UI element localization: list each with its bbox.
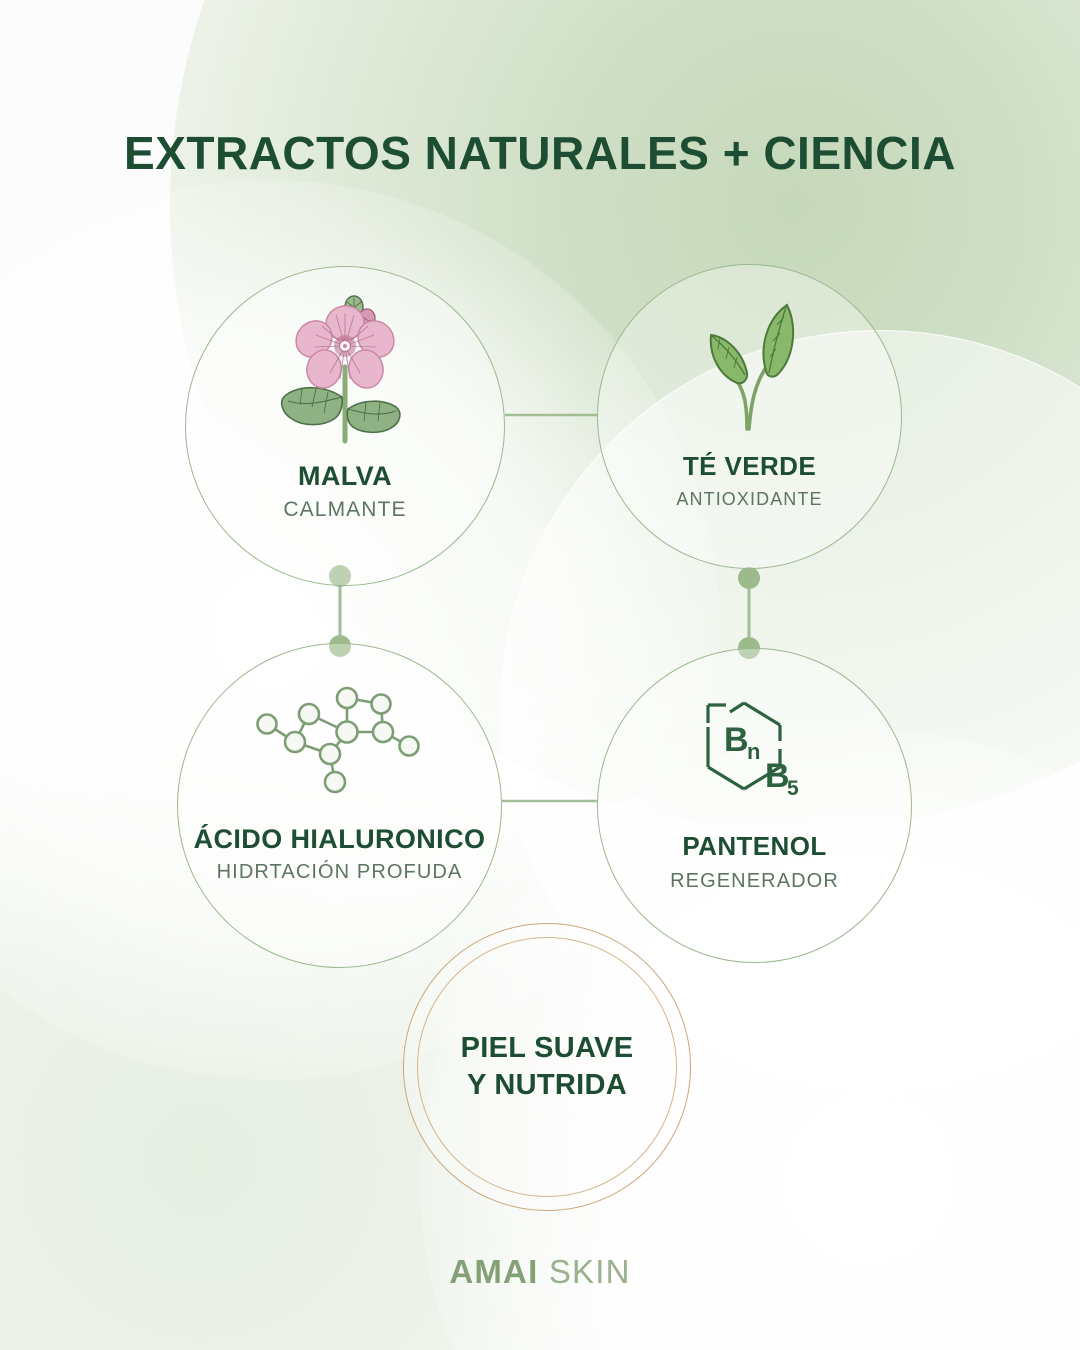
node-subtitle: CALMANTE [283,498,406,522]
outcome-line-1: PIEL SUAVE [461,1032,634,1064]
ingredient-node-malva[interactable]: MALVA CALMANTE [185,266,505,586]
node-title: ÁCIDO HIALURONICO [194,824,486,855]
node-subtitle: REGENERADOR [670,870,839,893]
hexagon-label-primary-sub: n [747,739,760,764]
mallow-flower-icon [270,289,420,459]
node-subtitle: ANTIOXIDANTE [676,489,822,510]
hexagon-b5-icon: B n B 5 [690,687,820,817]
hexagon-label-secondary: B [765,757,790,795]
outcome-line-2: Y NUTRIDA [467,1069,627,1101]
infographic-canvas: EXTRACTOS NATURALES + CIENCIA [0,0,1080,1350]
page-title: EXTRACTOS NATURALES + CIENCIA [0,128,1080,179]
ingredient-node-te-verde[interactable]: TÉ VERDE ANTIOXIDANTE [597,264,902,569]
hexagon-label-secondary-sub: 5 [787,777,799,800]
outcome-node-piel-suave[interactable]: PIEL SUAVE Y NUTRIDA [403,923,691,1211]
ingredient-node-acido-hialuronico[interactable]: ÁCIDO HIALURONICO HIDRTACIÓN PROFUDA [177,643,502,968]
node-title: MALVA [298,461,392,492]
brand-name-primary: AMAI [449,1253,538,1290]
outcome-label: PIEL SUAVE Y NUTRIDA [461,1030,634,1104]
node-title: PANTENOL [682,831,826,862]
hexagon-label-primary: B [724,721,749,759]
brand-logo: AMAI SKIN [0,1253,1080,1291]
green-tea-leaves-icon [685,297,815,437]
molecule-structure-icon [251,666,429,816]
node-title: TÉ VERDE [683,451,816,482]
ingredient-node-pantenol[interactable]: B n B 5 PANTENOL REGENERADOR [597,648,912,963]
brand-name-secondary: SKIN [549,1253,631,1290]
node-subtitle: HIDRTACIÓN PROFUDA [217,861,463,884]
